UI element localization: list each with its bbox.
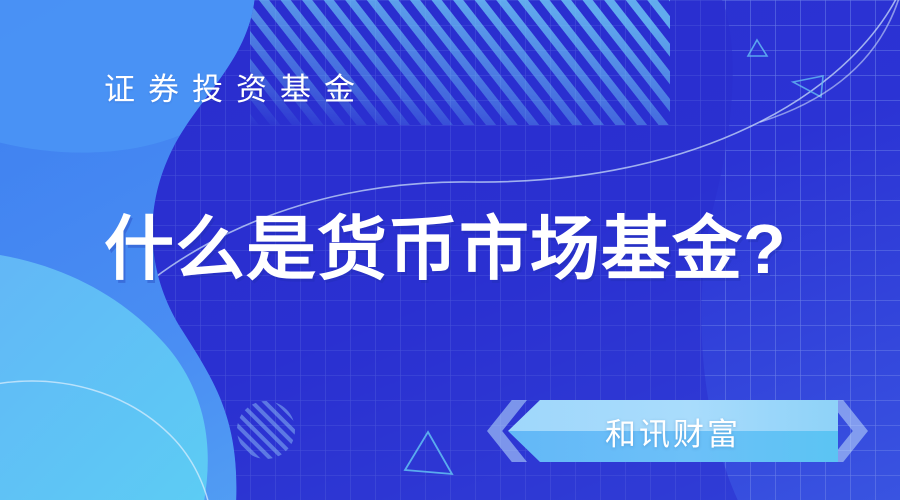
brand-ribbon: 和讯财富 xyxy=(0,0,900,500)
brand-name: 和讯财富 xyxy=(508,400,838,462)
poster-canvas: 和讯财富 证券投资基金 什么是货币市场基金? xyxy=(0,0,900,500)
